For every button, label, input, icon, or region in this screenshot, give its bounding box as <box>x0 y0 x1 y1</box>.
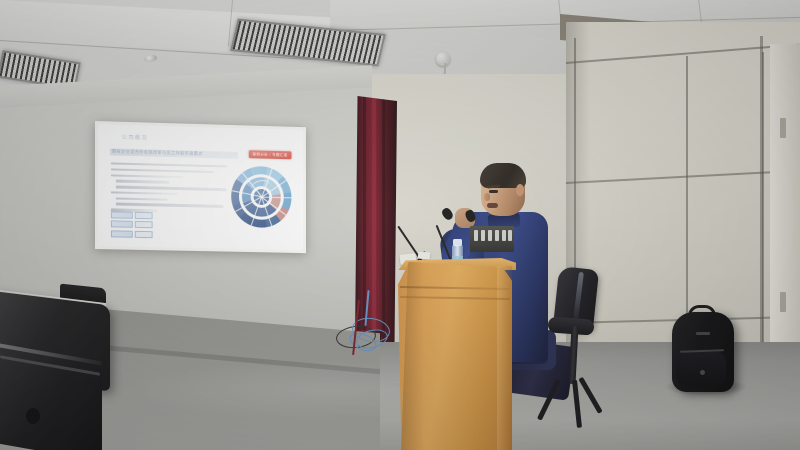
door-hinge <box>780 118 786 138</box>
phase-box <box>111 230 152 238</box>
donut-chart <box>231 166 291 229</box>
speaker-eye <box>489 190 498 193</box>
phase-box <box>111 211 152 219</box>
slide-title: 公司概况 <box>122 134 295 146</box>
speaker-mouth <box>487 203 498 208</box>
lectern-right-edge <box>497 266 512 450</box>
speaker-ear <box>516 184 524 196</box>
stage-curtain <box>355 96 397 348</box>
backpack-buckle <box>700 370 705 375</box>
slide-phase-boxes <box>111 211 152 240</box>
ceiling-sensor <box>436 52 450 66</box>
slide-body <box>111 162 227 217</box>
backpack-front-pocket <box>676 352 726 386</box>
speaker-nose <box>484 193 490 201</box>
slide-badge: 案例分析 / 专题汇报 <box>249 150 292 159</box>
audio-mixer-unit[interactable] <box>470 226 514 252</box>
desk-paper <box>418 252 430 260</box>
backpack-brand-tag <box>696 332 710 335</box>
door-hinge <box>780 292 786 312</box>
seat-handle-cutout <box>26 408 40 424</box>
projection-screen: 公司概况 国有企业混合所有制改革与员工持股实施要点 案例分析 / 专题汇报 <box>95 121 306 253</box>
projected-slide: 公司概况 国有企业混合所有制改革与员工持股实施要点 案例分析 / 专题汇报 <box>98 124 303 250</box>
lecture-hall-photo: 公司概况 国有企业混合所有制改革与员工持股实施要点 案例分析 / 专题汇报 <box>0 0 800 450</box>
phase-box <box>111 220 152 228</box>
